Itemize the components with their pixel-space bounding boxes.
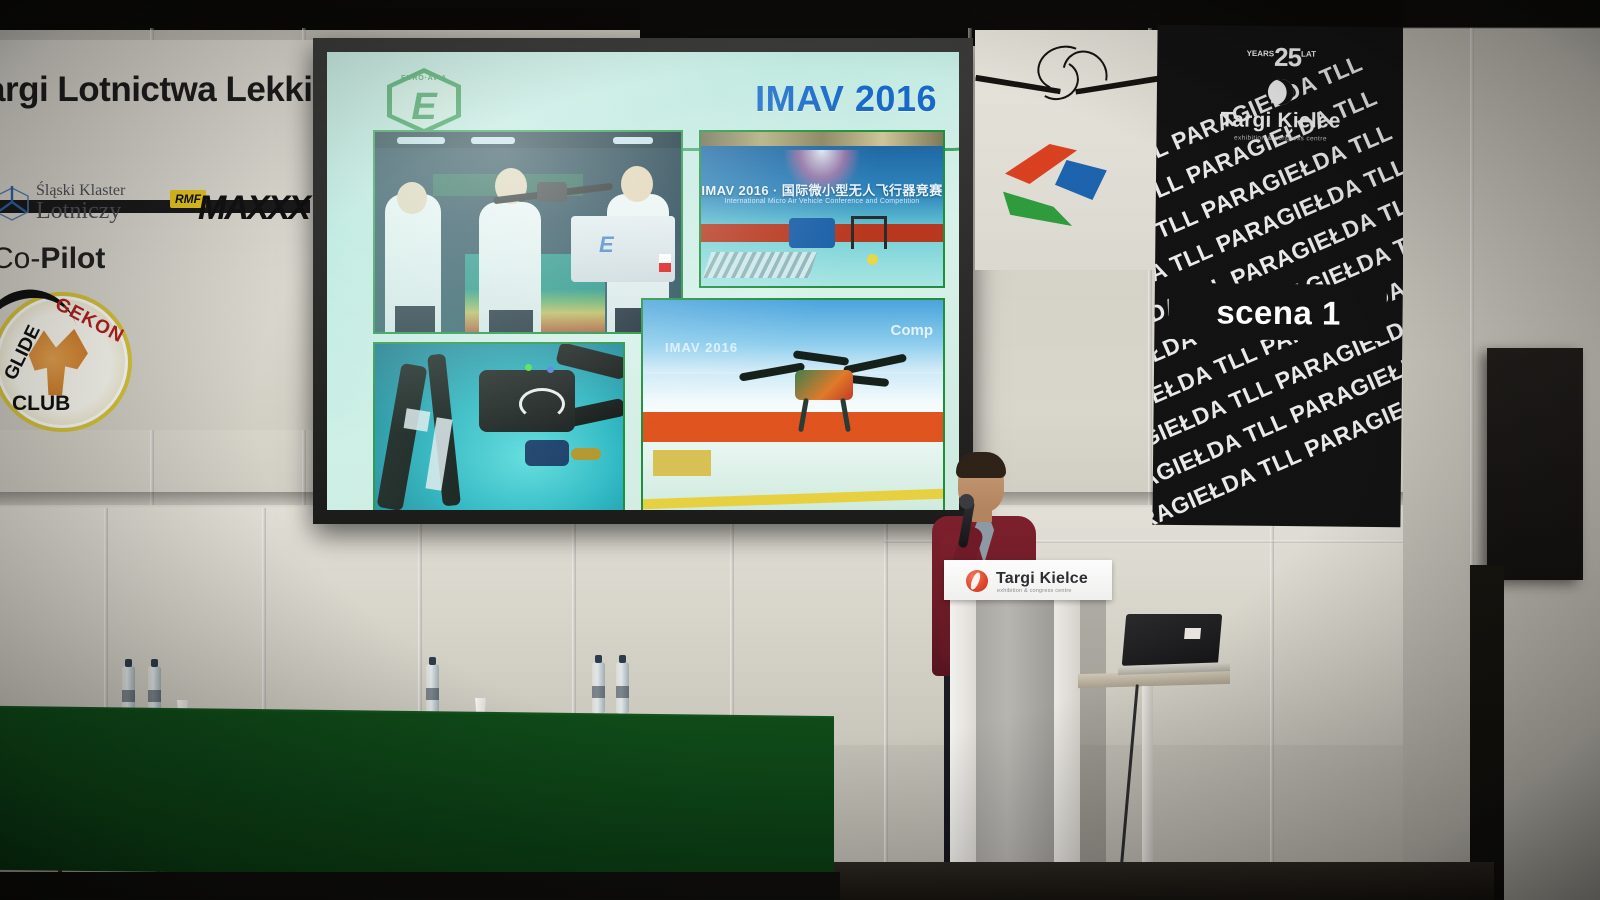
- lectern-sign: Targi Kielce exhibition & congress centr…: [944, 560, 1112, 600]
- wall-seam: [418, 508, 422, 718]
- water-bottle: [616, 662, 629, 714]
- gekon-word-bottom: CLUB: [12, 392, 70, 416]
- pinwheel-green-petal: [1003, 186, 1075, 226]
- flight-overlay-text-2: Comp: [891, 322, 934, 339]
- targi-kielce-logo-icon: [966, 570, 988, 592]
- projection-screen-frame: EURO·AVIA E IMAV 2016: [313, 38, 973, 524]
- event-logo-panel: [975, 30, 1163, 270]
- laptop-sticker: [1184, 628, 1201, 639]
- anniversary-mark: YEARS25LAT: [1157, 41, 1405, 75]
- lectern-shadow: [1080, 600, 1106, 900]
- anniversary-lat-label: LAT: [1301, 50, 1316, 59]
- drone-propeller: [843, 353, 907, 374]
- slide-photo-drone-flight: IMAV 2016 Comp: [641, 298, 945, 510]
- rmf-maxxx-logo: MAXXX: [198, 189, 309, 228]
- paragielda-tll-banner: PARAGIEŁDA TLL PARAGIEŁDA TLLPARAGIEŁDA …: [1152, 25, 1405, 528]
- copilot-logo: Co-Pilot: [0, 242, 105, 276]
- wall-seam: [884, 508, 888, 864]
- arena-ceiling: [701, 132, 943, 146]
- projection-screen: EURO·AVIA E IMAV 2016: [327, 52, 959, 510]
- copilot-prefix: Co-: [0, 242, 40, 275]
- arena-gate: [851, 216, 887, 249]
- targi-kielce-logo-icon: [1264, 75, 1297, 108]
- pa-speaker-cabinet: [1487, 348, 1583, 580]
- slaski-klaster-text: Śląski Klaster Lotniczy: [36, 183, 125, 224]
- microphone-head: [959, 494, 974, 509]
- drone-tape: [404, 408, 431, 432]
- lectern: Targi Kielce exhibition & congress centr…: [944, 560, 1112, 900]
- imav-banner-line-2: International Micro Air Vehicle Conferen…: [701, 198, 943, 205]
- team-laptop-lid: [571, 216, 675, 282]
- team-member-head: [397, 182, 427, 214]
- wall-seam: [104, 508, 108, 718]
- pinwheel-logo: [1003, 142, 1125, 252]
- anniversary-number: 25: [1274, 42, 1301, 72]
- arena-crate: [653, 450, 711, 476]
- lectern-brand-sub: exhibition & congress centre: [997, 588, 1072, 594]
- lectern-brand: Targi Kielce: [996, 570, 1088, 588]
- wall-seam: [262, 508, 266, 718]
- slide-title: IMAV 2016: [755, 78, 937, 120]
- drone-battery: [525, 440, 569, 466]
- team-member-head: [621, 166, 653, 202]
- presentation-laptop[interactable]: [1118, 614, 1222, 676]
- wall-seam: [572, 508, 576, 718]
- arena-ball: [867, 254, 878, 265]
- stage-label: scena 1: [1154, 293, 1402, 334]
- water-bottle: [426, 664, 439, 716]
- presenter-hair: [956, 452, 1006, 478]
- fair-title-text: argi Lotnictwa Lekkiego: [0, 70, 346, 110]
- lectern-column-right: [1054, 600, 1080, 900]
- conference-photo-scene: argi Lotnictwa Lekkiego Śląski Klaster L…: [0, 0, 1600, 900]
- lectern-column-left: [950, 600, 976, 900]
- wall-seam: [730, 508, 734, 718]
- euroavia-wordmark: EURO·AVIA: [387, 75, 461, 82]
- flying-drone: [739, 354, 907, 414]
- slide-photo-stage-banner: IMAV 2016 · 国际微小型无人飞行器竞赛 International M…: [699, 130, 945, 288]
- foreground-shadow: [0, 872, 840, 900]
- arena-track: [703, 252, 817, 278]
- held-drone: [493, 178, 613, 208]
- drone-led: [547, 366, 554, 373]
- pa-speaker-cabinet: [1470, 565, 1504, 900]
- wall-seam: [1270, 508, 1274, 864]
- draped-panel-table: [0, 708, 834, 880]
- drone-wiring: [571, 448, 601, 460]
- team-member-legs: [395, 306, 435, 332]
- team-member-legs: [489, 310, 533, 332]
- klaster-line-1: Śląski Klaster: [36, 183, 125, 199]
- targi-kielce-brand: Targi Kielce: [1157, 108, 1405, 135]
- imav-banner-line-1: IMAV 2016 · 国际微小型无人飞行器竞赛: [701, 180, 943, 199]
- ceiling-light: [397, 137, 445, 144]
- pinwheel-blue-petal: [1055, 160, 1127, 200]
- flight-overlay-text-1: IMAV 2016: [665, 340, 738, 355]
- slide-photo-drone-closeup: [373, 342, 625, 510]
- slide-photo-team: E: [373, 130, 683, 334]
- copilot-suffix: Pilot: [40, 242, 105, 275]
- drone-body: [795, 370, 853, 400]
- drone-wire: [519, 388, 565, 420]
- arena-rover: [789, 218, 835, 248]
- lectern-column-center: [976, 600, 1054, 900]
- ceiling-light: [471, 137, 515, 144]
- drone-led: [525, 364, 532, 371]
- arena-barrier: [643, 412, 943, 442]
- floor-shadow: [834, 862, 1494, 900]
- laptop-euroavia-logo: E: [599, 232, 614, 258]
- laptop-lid: [1122, 614, 1223, 666]
- ceiling-light: [613, 137, 653, 144]
- drone-arm: [377, 363, 428, 510]
- flag-patch: [659, 254, 671, 272]
- water-bottle: [592, 662, 605, 714]
- targi-kielce-banner-header: YEARS25LAT Targi Kielce exhibition & con…: [1156, 41, 1405, 144]
- klaster-line-2: Lotniczy: [36, 199, 125, 223]
- drone-body: [537, 182, 567, 202]
- anniversary-years-label: YEARS: [1247, 49, 1275, 58]
